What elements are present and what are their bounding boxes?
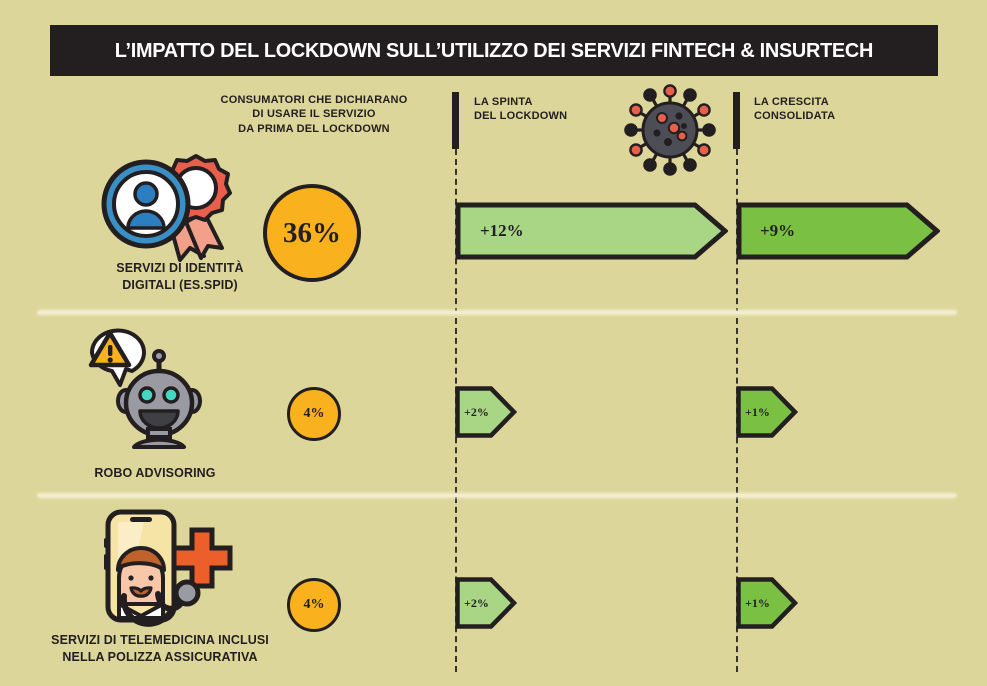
arrow-spinta-telemedicina: +2% bbox=[455, 577, 526, 629]
row-label-robo-advisoring-line1: ROBO ADVISORING bbox=[55, 465, 255, 482]
arrow-spinta-identita-digitali-label: +12% bbox=[480, 221, 524, 241]
header-bar: L’IMPATTO DEL LOCKDOWN SULL’UTILIZZO DEI… bbox=[50, 25, 938, 76]
row-separator-1 bbox=[38, 311, 956, 314]
column-header-consumers-line2: DI USARE IL SERVIZIO bbox=[203, 107, 425, 121]
infographic-canvas: L’IMPATTO DEL LOCKDOWN SULL’UTILIZZO DEI… bbox=[0, 0, 987, 686]
arrow-crescita-telemedicina: +1% bbox=[736, 577, 807, 629]
row-label-telemedicina-line2: NELLA POLIZZA ASSICURATIVA bbox=[30, 649, 290, 666]
row-label-identita-digitali-line1: SERVIZI DI IDENTITÀ bbox=[85, 260, 275, 277]
pct-value-robo-advisoring: 4% bbox=[304, 406, 325, 422]
column-header-consumers: CONSUMATORI CHE DICHIARANO DI USARE IL S… bbox=[203, 93, 425, 136]
row-label-telemedicina: SERVIZI DI TELEMEDICINA INCLUSI NELLA PO… bbox=[30, 632, 290, 665]
arrow-crescita-identita-digitali-label: +9% bbox=[760, 221, 795, 241]
coronavirus-icon bbox=[618, 80, 722, 180]
column-header-consumers-line3: DA PRIMA DEL LOCKDOWN bbox=[203, 122, 425, 136]
column-header-crescita-line1: LA CRESCITA bbox=[754, 95, 914, 109]
column-header-crescita: LA CRESCITA CONSOLIDATA bbox=[754, 95, 914, 124]
telemedicine-phone-doctor-icon bbox=[88, 508, 238, 630]
digital-identity-badge-icon bbox=[100, 152, 232, 264]
robot-warning-icon bbox=[80, 325, 210, 450]
row-separator-2 bbox=[38, 494, 956, 497]
coronavirus-icon-svg bbox=[618, 80, 722, 180]
arrow-crescita-identita-digitali: +9% bbox=[736, 202, 964, 260]
row-label-identita-digitali-line2: DIGITALI (ES.SPID) bbox=[85, 277, 275, 294]
telemedicine-phone-doctor-icon-svg bbox=[88, 508, 238, 630]
arrow-crescita-telemedicina-label: +1% bbox=[745, 596, 770, 611]
row-label-robo-advisoring: ROBO ADVISORING bbox=[55, 465, 255, 482]
arrow-spinta-identita-digitali: +12% bbox=[455, 202, 753, 260]
arrow-spinta-robo-advisoring: +2% bbox=[455, 386, 526, 438]
pct-value-identita-digitali: 36% bbox=[283, 217, 341, 250]
pct-value-telemedicina: 4% bbox=[304, 597, 325, 613]
column-header-spinta-line2: DEL LOCKDOWN bbox=[474, 109, 624, 123]
digital-identity-badge-icon-svg bbox=[100, 152, 232, 264]
pct-circle-telemedicina: 4% bbox=[287, 578, 341, 632]
robot-warning-icon-svg bbox=[80, 325, 210, 450]
row-label-telemedicina-line1: SERVIZI DI TELEMEDICINA INCLUSI bbox=[30, 632, 290, 649]
column-header-spinta-line1: LA SPINTA bbox=[474, 95, 624, 109]
column-header-spinta: LA SPINTA DEL LOCKDOWN bbox=[474, 95, 624, 124]
arrow-spinta-telemedicina-label: +2% bbox=[464, 596, 489, 611]
divider-spinta-solid bbox=[452, 92, 459, 149]
column-header-consumers-line1: CONSUMATORI CHE DICHIARANO bbox=[203, 93, 425, 107]
divider-crescita-solid bbox=[733, 92, 740, 149]
pct-circle-identita-digitali: 36% bbox=[263, 184, 361, 282]
column-header-crescita-line2: CONSOLIDATA bbox=[754, 109, 914, 123]
arrow-crescita-robo-advisoring: +1% bbox=[736, 386, 807, 438]
page-title: L’IMPATTO DEL LOCKDOWN SULL’UTILIZZO DEI… bbox=[115, 39, 873, 63]
row-label-identita-digitali: SERVIZI DI IDENTITÀ DIGITALI (ES.SPID) bbox=[85, 260, 275, 293]
arrow-spinta-robo-advisoring-label: +2% bbox=[464, 405, 489, 420]
arrow-crescita-robo-advisoring-label: +1% bbox=[745, 405, 770, 420]
pct-circle-robo-advisoring: 4% bbox=[287, 387, 341, 441]
